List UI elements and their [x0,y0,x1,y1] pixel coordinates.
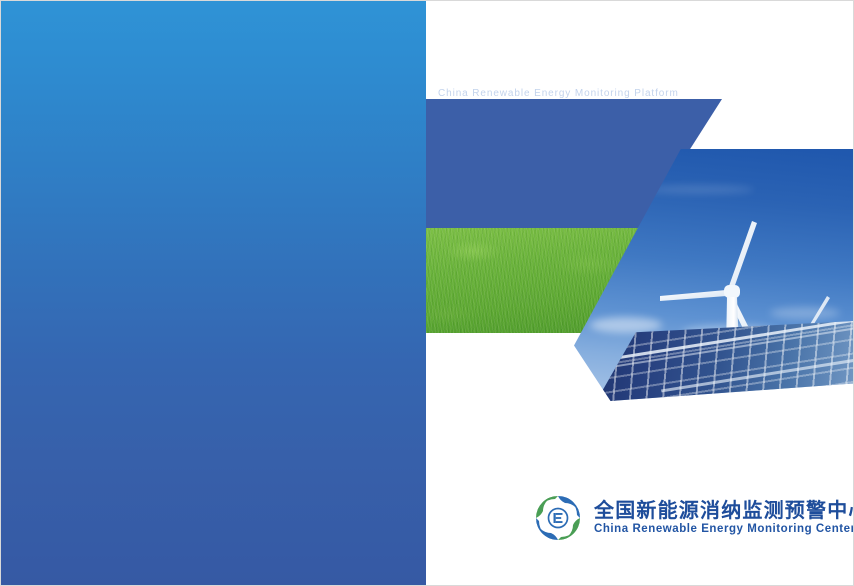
logo-monogram-e [554,513,563,523]
left-blue-panel [1,1,426,586]
crem-swirl-emblem-icon [533,493,583,543]
platform-title-line-2: 监测预警平台 [438,48,688,81]
title-banner-content: 全国新能源电力消纳 监测预警平台 China Renewable Energy … [438,15,688,99]
organization-logo-lockup: 全国新能源消纳监测预警中心 China Renewable Energy Mon… [533,493,854,543]
organization-name-block: 全国新能源消纳监测预警中心 China Renewable Energy Mon… [594,501,854,536]
platform-subtitle-english: China Renewable Energy Monitoring Platfo… [438,88,688,99]
organization-name-cn: 全国新能源消纳监测预警中心 [594,501,854,521]
organization-name-en: China Renewable Energy Monitoring Center [594,524,854,536]
brochure-cover: 全国新能源电力消纳 监测预警平台 China Renewable Energy … [0,0,854,586]
platform-title-line-1: 全国新能源电力消纳 [438,15,688,48]
right-white-page: 全国新能源电力消纳 监测预警平台 China Renewable Energy … [426,1,854,586]
